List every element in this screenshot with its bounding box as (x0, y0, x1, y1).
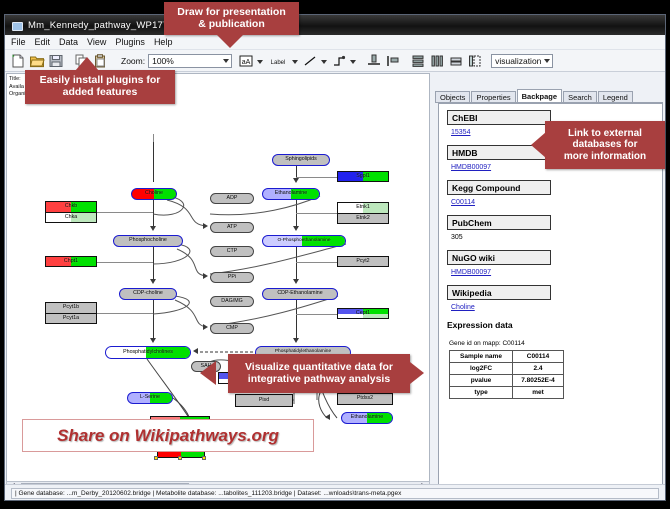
pathway-node-sphingolipids[interactable]: Sphingolipids (272, 154, 330, 166)
callout-arrow-up-icon (75, 57, 99, 71)
node-label: Ptdss2 (357, 396, 373, 401)
edge (296, 262, 337, 263)
edge (296, 213, 337, 214)
node-label: Etnk1 (356, 205, 370, 210)
node-label: Ethanolamine (351, 415, 383, 420)
node-label: Pisd (259, 398, 269, 403)
arrow-icon (203, 223, 208, 229)
node-label: Cept1 (356, 311, 370, 316)
cell-key: Sample name (450, 351, 513, 363)
gene-box-etnk1[interactable]: Etnk1 (337, 202, 389, 213)
gene-box-pcyt2[interactable]: Pcyt2 (337, 256, 389, 267)
cell-value: 2.4 (513, 363, 564, 375)
pathway-node-phosphatidylcholines[interactable]: Phosphatidylcholines (105, 346, 191, 359)
node-label: CDP-Ethanolamine (277, 291, 322, 296)
pathway-node-dag-mg[interactable]: DAG/MG (210, 296, 254, 307)
callout-arrow-right-icon (410, 362, 424, 384)
pathway-node-cdp-ethanolamine[interactable]: CDP-Ethanolamine (262, 288, 338, 300)
arrow-icon (293, 279, 299, 284)
db-link-nugo-wiki[interactable]: HMDB00097 (451, 269, 656, 276)
pathway-node-l-serine-left[interactable]: L-Serine (127, 392, 173, 404)
menu-bar: File Edit Data View Plugins Help (5, 35, 665, 50)
arrow-icon (203, 324, 208, 330)
menu-item-edit[interactable]: Edit (35, 37, 51, 47)
node-label: Choline (145, 191, 163, 196)
gene-box-pcyt1a[interactable]: Pcyt1a (45, 313, 97, 324)
gene-id-on-mapp: Gene id on mapp: C00114 (449, 340, 656, 347)
pathway-node-ethanolamine-right[interactable]: Ethanolamine (341, 412, 393, 424)
label-dropdown-icon[interactable] (292, 53, 299, 69)
gene-box-chpt1[interactable]: Chpt1 (45, 256, 97, 267)
edge (153, 200, 154, 228)
stack-icon[interactable] (448, 53, 464, 69)
cell-key: log2FC (450, 363, 513, 375)
node-label: ATP (227, 225, 237, 230)
screenshot-root: Mm_Kennedy_pathway_WP1771_45176.gpml Fil… (0, 0, 670, 509)
cell-value: 7.80252E-4 (513, 375, 564, 387)
edge (296, 314, 337, 315)
align-left-icon[interactable] (385, 53, 401, 69)
node-label: Phosphocholine (129, 238, 167, 243)
node-label: DAG/MG (221, 299, 242, 304)
menu-item-plugins[interactable]: Plugins (115, 37, 145, 47)
gene-box-pisd[interactable]: Pisd (235, 394, 293, 407)
gene-box-pcyt1b[interactable]: Pcyt1b (45, 302, 97, 313)
table-row: type met (450, 387, 564, 399)
db-link-kegg-compound[interactable]: C00114 (451, 199, 656, 206)
line-dropdown-icon[interactable] (321, 53, 328, 69)
expression-data-heading: Expression data (447, 320, 656, 330)
node-label: Sgpl1 (356, 174, 370, 179)
edge (296, 247, 297, 281)
align-bottom-icon[interactable] (366, 53, 382, 69)
db-header-pubchem: PubChem (447, 215, 551, 230)
edge (296, 177, 337, 178)
arrow-icon (150, 279, 156, 284)
node-label: Phosphatidylcholines (123, 350, 173, 355)
pathway-node-o-phosphoethanolamine[interactable]: O-Phosphoethanolamine (262, 235, 346, 247)
pathway-node-adp[interactable]: ADP (210, 193, 254, 204)
text-label-icon[interactable]: aA (238, 53, 254, 69)
pathway-node-cmp[interactable]: CMP (210, 323, 254, 334)
edge (153, 300, 154, 340)
open-folder-icon[interactable] (29, 53, 45, 69)
connector-dropdown-icon[interactable] (350, 53, 357, 69)
pathway-node-ctp[interactable]: CTP (210, 246, 254, 257)
pathway-info-organism: Organi (9, 91, 26, 99)
arrow-icon (203, 273, 208, 279)
callout-arrow-left-icon (531, 132, 546, 158)
gene-box-cept1[interactable]: Cept1 (337, 308, 389, 319)
status-text: | Gene database: ...m_Derby_20120602.bri… (11, 488, 659, 499)
selection-handle[interactable] (154, 456, 158, 460)
db-link-wikipedia[interactable]: Choline (451, 304, 656, 311)
arrow-icon (150, 338, 156, 343)
callout-easily-install-plugins: Easily install plugins for added feature… (25, 70, 175, 104)
menu-item-view[interactable]: View (87, 37, 106, 47)
gene-box-ptdss2[interactable]: Ptdss2 (337, 393, 393, 405)
share-banner: Share on Wikipathways.org (22, 419, 314, 452)
arrow-icon (150, 226, 156, 231)
arrow-icon (325, 414, 330, 420)
visualization-value: visualization (495, 56, 541, 66)
pathway-node-atp[interactable]: ATP (210, 222, 254, 233)
zoom-combo[interactable]: 100% (148, 54, 232, 68)
node-label: Chpt1 (64, 259, 78, 264)
node-label: PPi (228, 275, 236, 280)
label-tool-icon[interactable]: Label (267, 53, 289, 69)
callout-link-to-external-databases: Link to external databases for more info… (545, 121, 665, 169)
node-label: Pcyt1a (63, 316, 79, 321)
distribute-vertical-icon[interactable] (410, 53, 426, 69)
table-row: Sample name C00114 (450, 351, 564, 363)
line-tool-icon[interactable] (302, 53, 318, 69)
edge (296, 300, 297, 340)
pathway-node-phosphocholine[interactable]: Phosphocholine (113, 235, 183, 247)
new-file-icon[interactable] (10, 53, 26, 69)
table-row: pvalue 7.80252E-4 (450, 375, 564, 387)
arrow-icon (193, 348, 198, 354)
db-header-nugo-wiki: NuGO wiki (447, 250, 551, 265)
pathway-info-labels: Title: Availa Organi (9, 76, 26, 99)
node-label: O-Phosphoethanolamine (277, 239, 330, 244)
chevron-down-icon (544, 59, 550, 63)
node-label: CMP (226, 326, 238, 331)
edge (296, 200, 297, 228)
arrow-icon (293, 178, 299, 183)
gene-box-sgpl1[interactable]: Sgpl1 (337, 171, 389, 182)
db-value-pubchem: 305 (451, 234, 656, 241)
pathway-node-ppi[interactable]: PPi (210, 272, 254, 283)
expression-data-table: Sample name C00114 log2FC 2.4 pvalue 7.8… (449, 350, 564, 399)
cell-key: type (450, 387, 513, 399)
gene-box-etnk2[interactable]: Etnk2 (337, 213, 389, 224)
arrow-icon (293, 226, 299, 231)
zoom-value: 100% (152, 56, 174, 66)
node-label: CTP (227, 249, 238, 254)
table-row: log2FC 2.4 (450, 363, 564, 375)
node-label: Sphingolipids (285, 157, 317, 162)
menu-item-data[interactable]: Data (59, 37, 78, 47)
title-bar: Mm_Kennedy_pathway_WP1771_45176.gpml (5, 15, 665, 35)
pathvisio-app-icon (11, 19, 23, 31)
share-banner-text: Share on Wikipathways.org (57, 426, 279, 446)
callout-visualize-quantitative-data: Visualize quantitative data for integrat… (228, 354, 410, 393)
selection-handle[interactable] (202, 456, 206, 460)
node-label: Chkb (65, 204, 77, 209)
menu-item-help[interactable]: Help (154, 37, 173, 47)
pathway-node-cdp-choline[interactable]: CDP-choline (119, 288, 177, 300)
callout-draw-for-presentation: Draw for presentation & publication (164, 2, 299, 35)
db-header-chebi: ChEBI (447, 110, 551, 125)
cell-key: pvalue (450, 375, 513, 387)
save-icon[interactable] (48, 53, 64, 69)
status-bar: | Gene database: ...m_Derby_20120602.bri… (5, 484, 665, 501)
tool-bar: Zoom: 100% aA Label (5, 50, 665, 72)
db-header-wikipedia: Wikipedia (447, 285, 551, 300)
arrow-icon (293, 338, 299, 343)
zoom-label: Zoom: (121, 56, 145, 66)
svg-text:aA: aA (242, 59, 251, 66)
pathway-info-available: Availa (9, 84, 26, 92)
pathway-node-ethanolamine[interactable]: Ethanolamine (262, 188, 320, 200)
cell-value: met (513, 387, 564, 399)
node-label: L-Serine (140, 395, 160, 400)
node-label: CDP-choline (133, 291, 163, 296)
pathway-node-choline[interactable]: Choline (131, 188, 177, 200)
visualization-combo[interactable]: visualization (491, 54, 553, 68)
tab-backpage[interactable]: Backpage (517, 89, 562, 103)
cell-value: C00114 (513, 351, 564, 363)
text-label-dropdown-icon[interactable] (257, 53, 264, 69)
chevron-down-icon (223, 59, 229, 63)
callout-arrow-down-icon (217, 35, 243, 48)
pathway-info-title: Title: (9, 76, 26, 84)
connector-tool-icon[interactable] (331, 53, 347, 69)
edge (97, 313, 153, 314)
node-label: Ethanolamine (275, 191, 307, 196)
right-panel-tabs: Objects Properties Backpage Search Legen… (435, 89, 663, 103)
selection-handle[interactable] (178, 456, 182, 460)
edge (153, 247, 154, 281)
callout-arrow-left-icon (200, 361, 216, 385)
node-label: Pcyt1b (63, 305, 79, 310)
edge (97, 212, 153, 213)
node-label: ADP (227, 196, 238, 201)
group-icon[interactable] (467, 53, 483, 69)
gene-box-chkb[interactable]: Chkb (45, 201, 97, 212)
menu-item-file[interactable]: File (11, 37, 26, 47)
db-header-kegg-compound: Kegg Compound (447, 180, 551, 195)
node-label: Etnk2 (356, 216, 370, 221)
node-label: Pcyt2 (356, 259, 369, 264)
distribute-horizontal-icon[interactable] (429, 53, 445, 69)
edge (97, 262, 153, 263)
node-label: Chka (65, 215, 77, 220)
gene-box-chka[interactable]: Chka (45, 212, 97, 223)
svg-text:Label: Label (271, 60, 286, 66)
